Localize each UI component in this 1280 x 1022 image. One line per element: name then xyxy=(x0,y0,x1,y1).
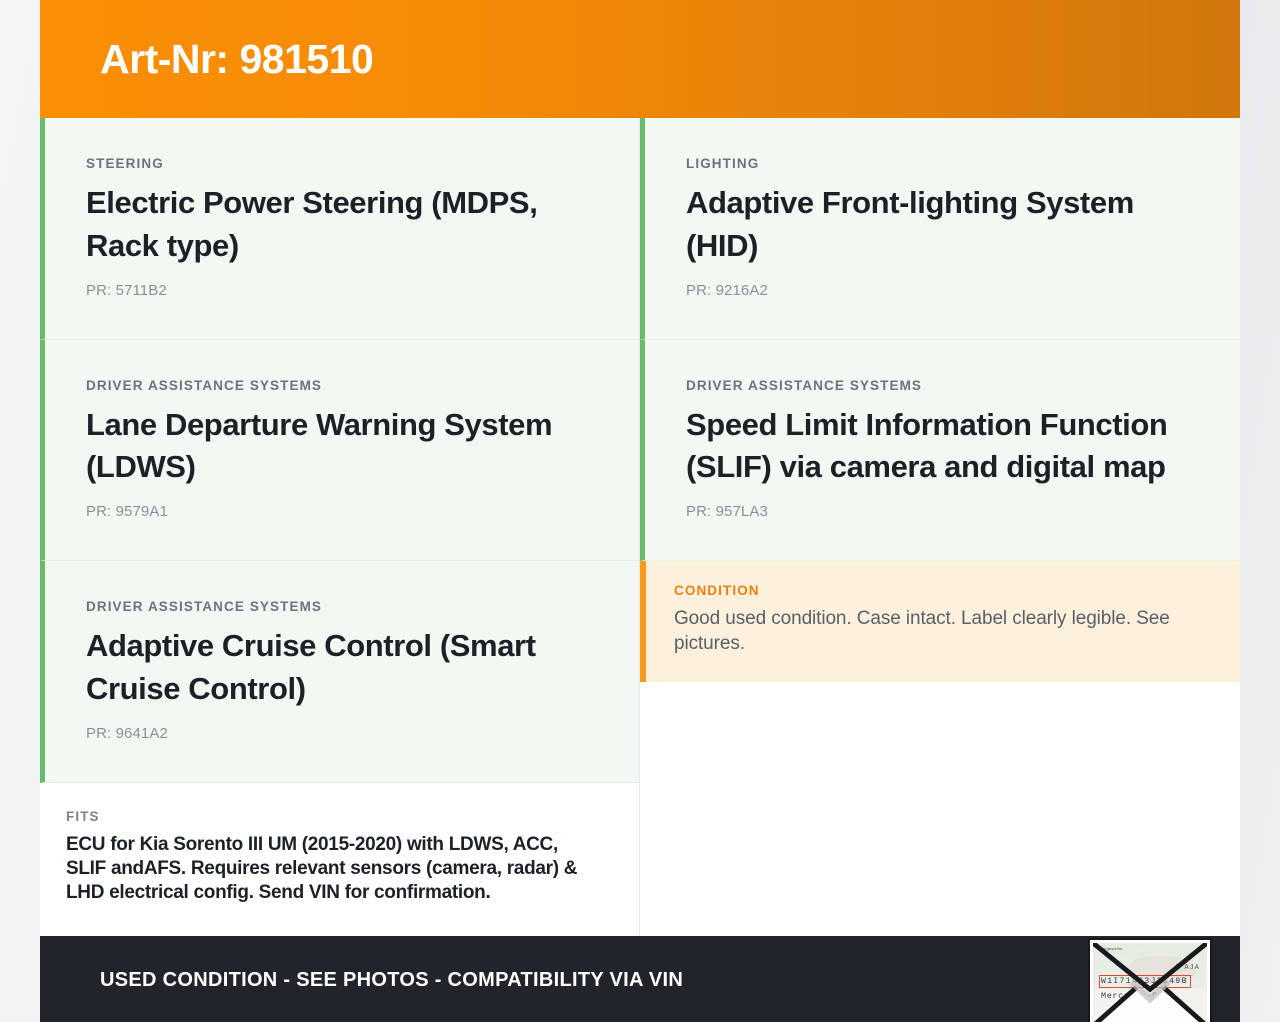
page-title: Art-Nr: 981510 xyxy=(100,39,373,80)
feature-category: STEERING xyxy=(86,156,593,171)
feature-category: DRIVER ASSISTANCE SYSTEMS xyxy=(86,378,593,393)
feature-card-steering: STEERING Electric Power Steering (MDPS, … xyxy=(40,118,639,340)
feature-pr-code: PR: 9216A2 xyxy=(686,282,1194,299)
envelope-icon: Fahrgestellnr. 4 AJA W1I71463J3149B Merc… xyxy=(1088,938,1212,1022)
condition-card: CONDITION Good used condition. Case inta… xyxy=(640,561,1240,682)
feature-title: Electric Power Steering (MDPS, Rack type… xyxy=(86,182,593,268)
footer-text: USED CONDITION - SEE PHOTOS - COMPATIBIL… xyxy=(100,969,683,992)
feature-card-acc: DRIVER ASSISTANCE SYSTEMS Adaptive Cruis… xyxy=(40,561,639,783)
document-brand: Mercedes-Benz xyxy=(1101,991,1175,1001)
feature-title: Adaptive Cruise Control (Smart Cruise Co… xyxy=(86,625,593,711)
feature-category: LIGHTING xyxy=(686,156,1194,171)
feature-pr-code: PR: 9579A1 xyxy=(86,503,593,520)
condition-text: Good used condition. Case intact. Label … xyxy=(674,606,1194,656)
condition-label: CONDITION xyxy=(674,583,1194,598)
footer-bar: USED CONDITION - SEE PHOTOS - COMPATIBIL… xyxy=(40,936,1240,1022)
feature-card-slif: DRIVER ASSISTANCE SYSTEMS Speed Limit In… xyxy=(640,340,1240,562)
vehicle-document-image: Fahrgestellnr. 4 AJA W1I71463J3149B Merc… xyxy=(1093,943,1207,1022)
feature-card-lighting: LIGHTING Adaptive Front-lighting System … xyxy=(640,118,1240,340)
fits-section: FITS ECU for Kia Sorento III UM (2015-20… xyxy=(40,783,639,936)
listing-sheet: Art-Nr: 981510 STEERING Electric Power S… xyxy=(40,0,1240,1022)
fits-label: FITS xyxy=(66,809,595,824)
feature-category: DRIVER ASSISTANCE SYSTEMS xyxy=(686,378,1194,393)
document-vin: W1I71463J3149B xyxy=(1101,977,1188,986)
feature-pr-code: PR: 5711B2 xyxy=(86,282,593,299)
feature-category: DRIVER ASSISTANCE SYSTEMS xyxy=(86,599,593,614)
fits-text: ECU for Kia Sorento III UM (2015-2020) w… xyxy=(66,833,595,906)
feature-pr-code: PR: 957LA3 xyxy=(686,503,1194,520)
right-column: LIGHTING Adaptive Front-lighting System … xyxy=(640,118,1240,682)
feature-title: Adaptive Front-lighting System (HID) xyxy=(686,182,1194,268)
document-field-label: Fahrgestellnr. xyxy=(1098,946,1124,951)
feature-title: Lane Departure Warning System (LDWS) xyxy=(86,404,593,490)
header-bar: Art-Nr: 981510 xyxy=(40,0,1240,118)
feature-card-ldws: DRIVER ASSISTANCE SYSTEMS Lane Departure… xyxy=(40,340,639,562)
feature-title: Speed Limit Information Function (SLIF) … xyxy=(686,404,1194,490)
left-column: STEERING Electric Power Steering (MDPS, … xyxy=(40,118,640,936)
document-code: 4 AJA xyxy=(1174,964,1200,972)
feature-columns: STEERING Electric Power Steering (MDPS, … xyxy=(40,118,1240,936)
feature-pr-code: PR: 9641A2 xyxy=(86,725,593,742)
